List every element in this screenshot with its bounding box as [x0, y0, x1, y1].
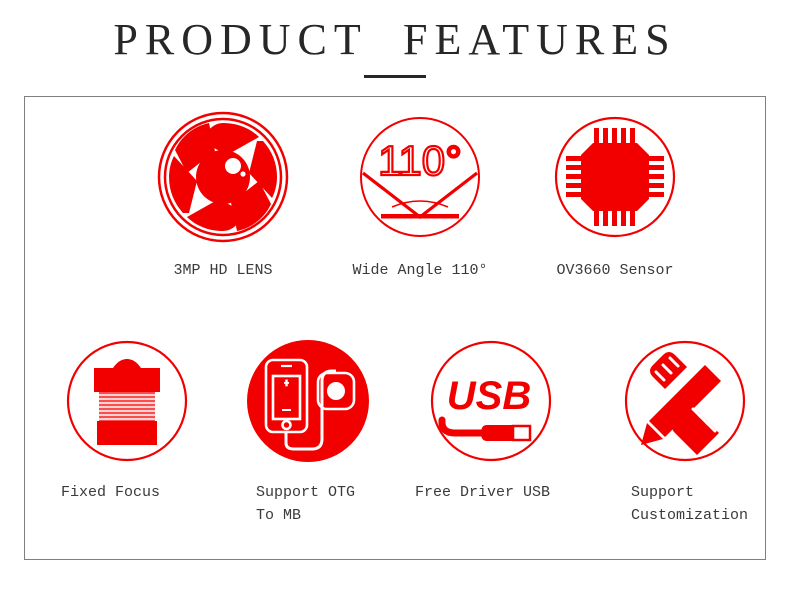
otg-phone-camera-icon: [242, 335, 374, 467]
usb-cable-icon: USB: [425, 335, 557, 467]
sensor-chip-icon: [549, 111, 681, 243]
feature-label-customization-line2: Customization: [595, 504, 775, 527]
feature-label-fixed-focus: Fixed Focus: [39, 481, 214, 504]
page-title: PRODUCT FEATURES: [0, 14, 790, 66]
feature-item-usb[interactable]: USB Free Driver USB: [403, 335, 578, 504]
feature-label-wide-angle: Wide Angle 110°: [325, 259, 515, 282]
feature-row-1: 3MP HD LENS 110° Wide Angle 110°: [25, 111, 767, 323]
feature-label-usb: Free Driver USB: [403, 481, 578, 504]
feature-row-2: Fixed Focus: [25, 335, 767, 561]
feature-label-otg-line1: Support OTG: [220, 481, 395, 504]
feature-item-wide-angle[interactable]: 110° Wide Angle 110°: [325, 111, 515, 282]
title-underline-divider: [364, 75, 426, 78]
wide-angle-value: 110°: [378, 137, 462, 184]
feature-label-customization-line1: Support: [595, 481, 775, 504]
feature-label-lens: 3MP HD LENS: [133, 259, 313, 282]
usb-wordmark: USB: [446, 374, 530, 418]
camera-aperture-icon: [157, 111, 289, 243]
feature-label-sensor: OV3660 Sensor: [525, 259, 705, 282]
fixed-focus-lens-icon: [61, 335, 193, 467]
feature-label-otg-line2: To MB: [220, 504, 395, 527]
features-frame: 3MP HD LENS 110° Wide Angle 110°: [24, 96, 766, 560]
feature-item-customization[interactable]: Support Customization: [595, 335, 775, 527]
feature-item-sensor[interactable]: OV3660 Sensor: [525, 111, 705, 282]
feature-item-fixed-focus[interactable]: Fixed Focus: [39, 335, 214, 504]
feature-item-otg[interactable]: Support OTG To MB: [220, 335, 395, 527]
pencil-ruler-icon: [619, 335, 751, 467]
wide-angle-icon: 110°: [354, 111, 486, 243]
feature-item-lens[interactable]: 3MP HD LENS: [133, 111, 313, 282]
title-block: PRODUCT FEATURES: [0, 0, 790, 78]
